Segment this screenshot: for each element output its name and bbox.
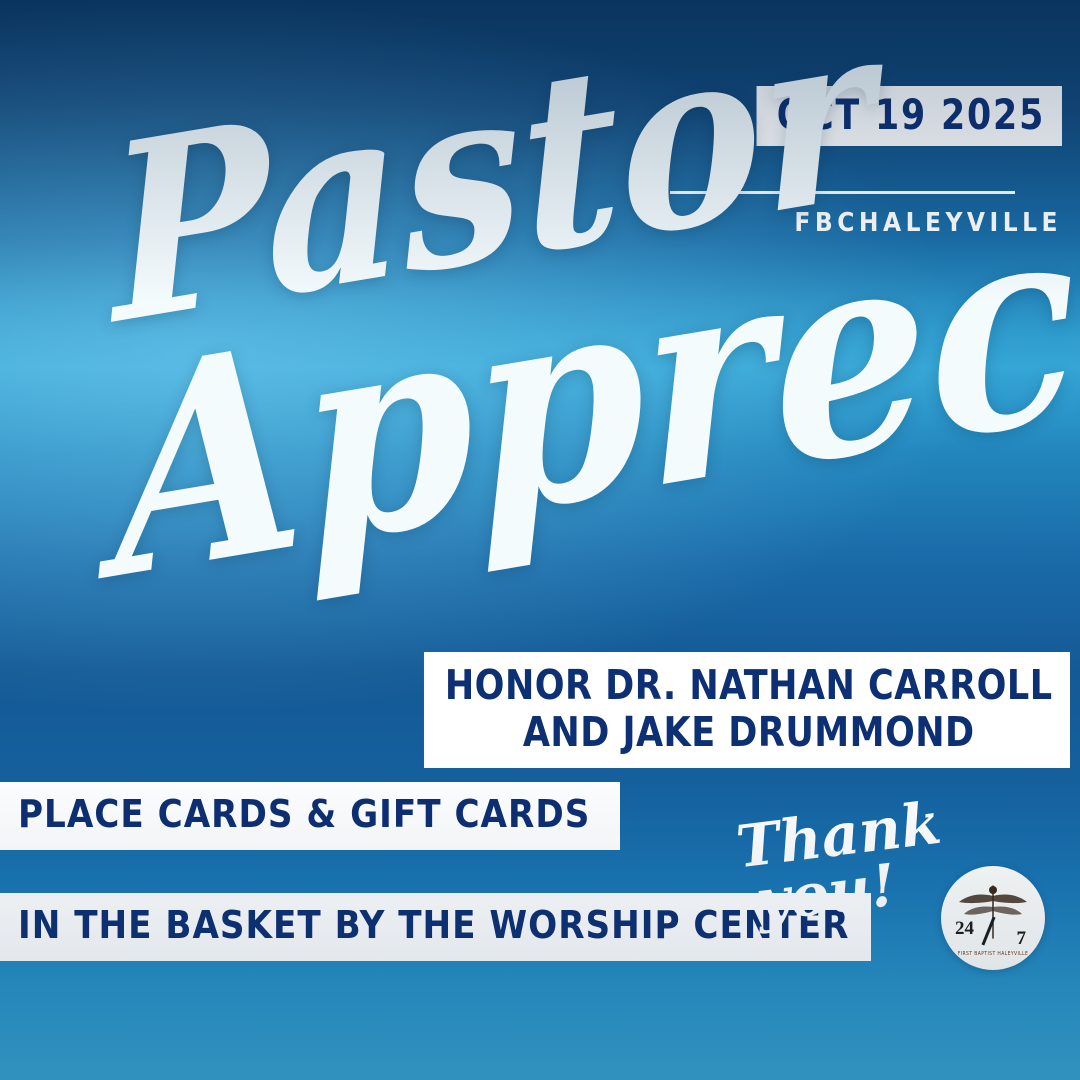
church-handle: FBCHALEYVILLE [794, 208, 1062, 238]
honor-line-2: AND JAKE DRUMMOND [445, 711, 1053, 754]
thank-you-script: Thank you! [718, 800, 908, 950]
logo-number-left: 24 [955, 918, 974, 940]
logo-caption: FIRST BAPTIST HALEYVILLE [941, 951, 1045, 957]
honor-banner: HONOR DR. NATHAN CARROLL AND JAKE DRUMMO… [424, 652, 1070, 768]
honor-line-1: HONOR DR. NATHAN CARROLL [445, 661, 1053, 709]
date-badge: OCT 19 2025 [757, 86, 1062, 146]
headline-line-1: Pastor [103, 0, 879, 357]
headline-group: Pastor Appreciation [0, 120, 1080, 680]
logo-number-right: 7 [1017, 928, 1027, 950]
place-cards-banner: PLACE CARDS & GIFT CARDS [0, 782, 620, 850]
poster-canvas: OCT 19 2025 FBCHALEYVILLE Pastor Appreci… [0, 0, 1080, 1080]
divider-rule [670, 191, 1015, 194]
thank-you-line-2: you! [753, 856, 899, 931]
church-logo: 24 7 FIRST BAPTIST HALEYVILLE [941, 866, 1045, 970]
